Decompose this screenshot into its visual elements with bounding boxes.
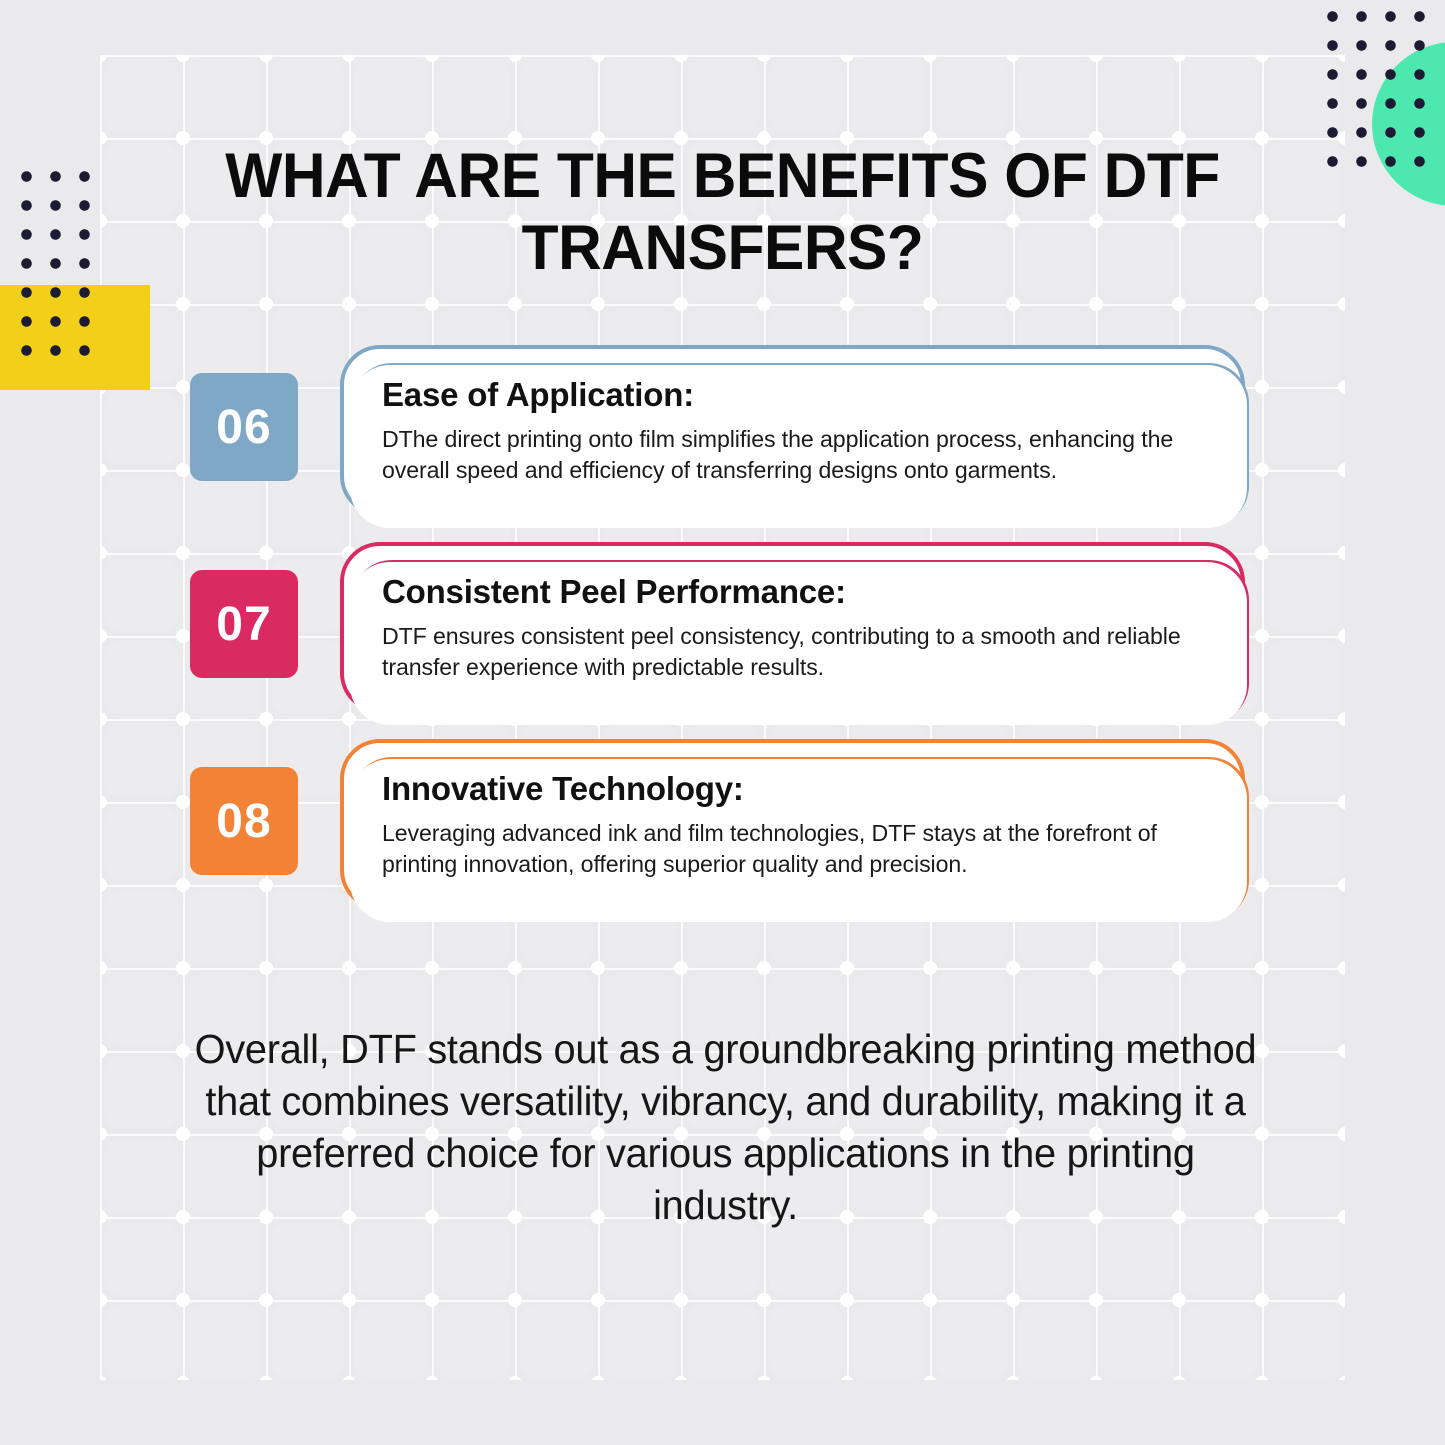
page-title: WHAT ARE THE BENEFITS OF DTF TRANSFERS? <box>202 140 1244 284</box>
benefit-card-title: Consistent Peel Performance: <box>382 572 1201 612</box>
benefit-item-06[interactable]: 06Ease of Application:DThe direct printi… <box>190 345 1245 516</box>
dot-grid-right-icon <box>1318 2 1440 172</box>
benefit-number-badge: 08 <box>190 767 298 875</box>
benefit-card[interactable]: Consistent Peel Performance:DTF ensures … <box>340 542 1245 713</box>
benefit-card-title: Ease of Application: <box>382 375 1201 415</box>
benefit-item-07[interactable]: 07Consistent Peel Performance:DTF ensure… <box>190 542 1245 713</box>
benefit-card-title: Innovative Technology: <box>382 769 1201 809</box>
benefit-number-label: 08 <box>216 794 271 849</box>
benefit-card-body: DTF ensures consistent peel consistency,… <box>382 621 1189 683</box>
infographic-canvas: WHAT ARE THE BENEFITS OF DTF TRANSFERS? … <box>0 0 1445 1445</box>
yellow-dome-icon <box>94 320 150 355</box>
benefit-card-body: Leveraging advanced ink and film technol… <box>382 818 1189 880</box>
benefit-number-label: 07 <box>216 597 271 652</box>
benefit-card-body: DThe direct printing onto film simplifie… <box>382 424 1189 486</box>
dot-grid-left-icon <box>12 162 90 367</box>
benefit-card[interactable]: Innovative Technology:Leveraging advance… <box>340 739 1245 910</box>
benefit-item-08[interactable]: 08Innovative Technology:Leveraging advan… <box>190 739 1245 910</box>
benefit-number-badge: 07 <box>190 570 298 678</box>
benefit-number-badge: 06 <box>190 373 298 481</box>
yellow-dome-icon <box>94 355 150 390</box>
summary-paragraph: Overall, DTF stands out as a groundbreak… <box>194 1023 1256 1231</box>
benefit-card[interactable]: Ease of Application:DThe direct printing… <box>340 345 1245 516</box>
benefit-number-label: 06 <box>216 400 271 455</box>
yellow-dome-icon <box>94 285 150 320</box>
